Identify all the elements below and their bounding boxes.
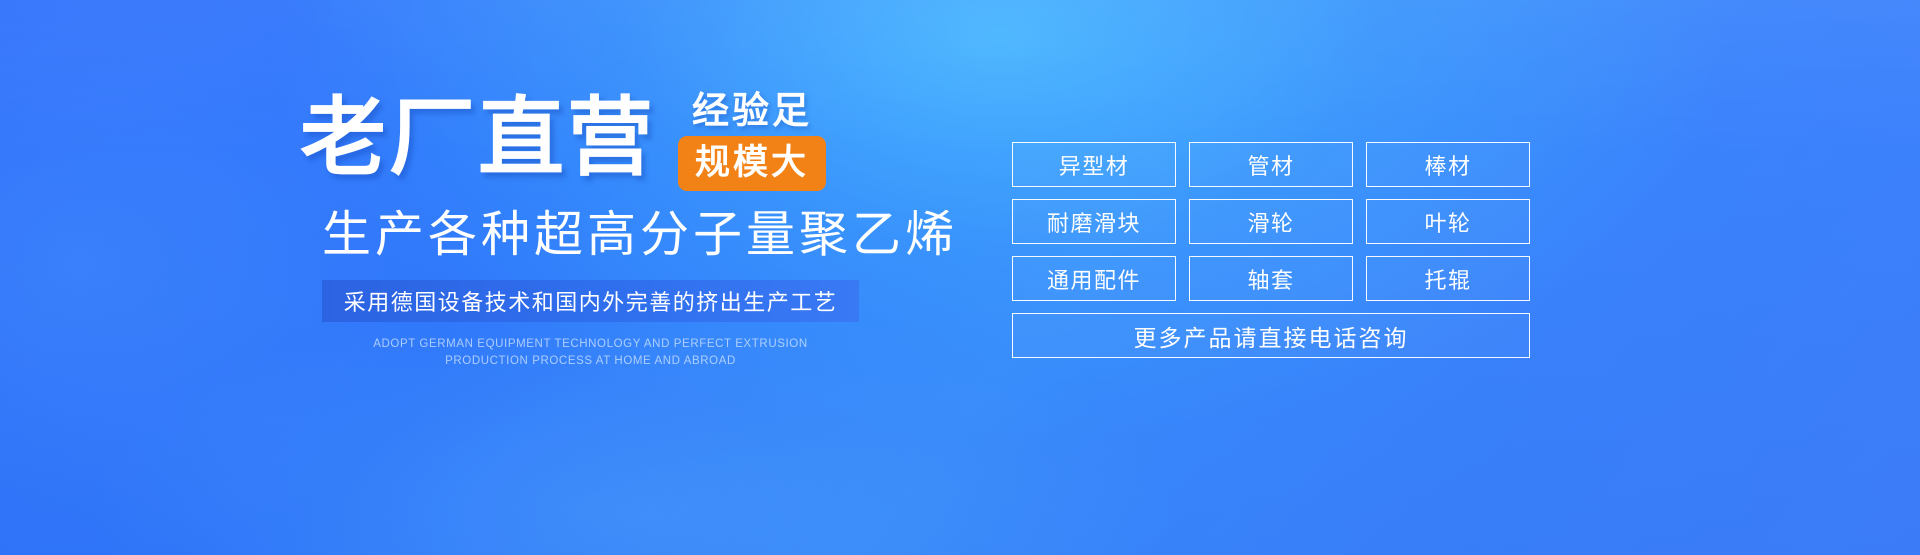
tagline-text: 采用德国设备技术和国内外完善的挤出生产工艺: [344, 285, 838, 317]
contact-cta-button[interactable]: 更多产品请直接电话咨询: [1012, 313, 1530, 358]
category-label: 管材: [1247, 149, 1294, 181]
category-label: 异型材: [1059, 149, 1130, 181]
category-button-profile[interactable]: 异型材: [1012, 142, 1176, 187]
english-tagline: ADOPT GERMAN EQUIPMENT TECHNOLOGY AND PE…: [322, 336, 859, 370]
category-row: 异型材 管材 棒材: [1012, 142, 1530, 187]
category-label: 叶轮: [1424, 206, 1471, 238]
category-label: 通用配件: [1047, 263, 1141, 295]
english-tagline-line-2: PRODUCTION PROCESS AT HOME AND ABROAD: [322, 353, 859, 370]
category-button-rod[interactable]: 棒材: [1366, 142, 1530, 187]
category-button-bushing[interactable]: 轴套: [1189, 256, 1353, 301]
category-label: 耐磨滑块: [1047, 206, 1141, 238]
product-category-panel: 异型材 管材 棒材 耐磨滑块 滑轮 叶轮 通用配件: [1012, 142, 1530, 358]
category-button-general-parts[interactable]: 通用配件: [1012, 256, 1176, 301]
category-button-pipe[interactable]: 管材: [1189, 142, 1353, 187]
category-label: 轴套: [1247, 263, 1294, 295]
badge-scale: 规模大: [678, 136, 826, 191]
category-button-idler-roller[interactable]: 托辊: [1366, 256, 1530, 301]
badge-experience: 经验足: [692, 90, 812, 132]
headline-badges: 经验足 规模大: [678, 90, 826, 191]
hero-banner: 老厂直营 经验足 规模大 生产各种超高分子量聚乙烯 采用德国设备技术和国内外完善…: [0, 0, 1920, 555]
category-button-impeller[interactable]: 叶轮: [1366, 199, 1530, 244]
category-label: 滑轮: [1247, 206, 1294, 238]
tagline-ribbon: 采用德国设备技术和国内外完善的挤出生产工艺: [322, 280, 859, 322]
category-button-wear-slider[interactable]: 耐磨滑块: [1012, 199, 1176, 244]
contact-cta-label: 更多产品请直接电话咨询: [1134, 319, 1409, 353]
headline-row: 老厂直营 经验足 规模大: [300, 86, 990, 194]
category-button-pulley[interactable]: 滑轮: [1189, 199, 1353, 244]
page-title: 老厂直营: [300, 86, 656, 190]
category-label: 棒材: [1424, 149, 1471, 181]
category-row: 耐磨滑块 滑轮 叶轮: [1012, 199, 1530, 244]
banner-left-content: 老厂直营 经验足 规模大 生产各种超高分子量聚乙烯 采用德国设备技术和国内外完善…: [300, 86, 990, 370]
subheadline: 生产各种超高分子量聚乙烯: [322, 206, 990, 264]
english-tagline-line-1: ADOPT GERMAN EQUIPMENT TECHNOLOGY AND PE…: [322, 336, 859, 353]
category-row: 通用配件 轴套 托辊: [1012, 256, 1530, 301]
category-label: 托辊: [1424, 263, 1471, 295]
